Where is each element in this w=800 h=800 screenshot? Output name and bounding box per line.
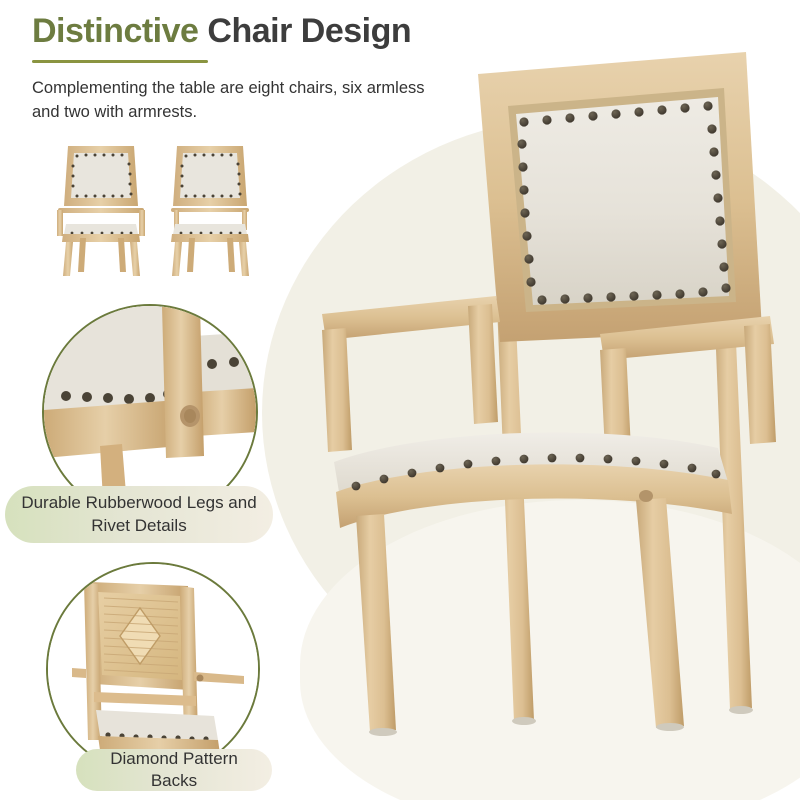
page-title: Distinctive Chair Design (32, 14, 452, 50)
subtitle-text: Complementing the table are eight chairs… (32, 76, 452, 126)
thumbnail-armless-side-chair (163, 138, 258, 278)
callout-label-legs-and-rivets: Durable Rubberwood Legs and Rivet Detail… (5, 486, 273, 543)
callout-label-backs-text: Diamond Pattern Backs (90, 748, 258, 792)
thumbnail-armchair-with-armrests (52, 138, 150, 278)
header-block: Distinctive Chair Design Complementing t… (32, 14, 452, 142)
title-underline-rule (32, 60, 208, 63)
detail-circle-diamond-pattern-back (46, 562, 260, 776)
callout-label-diamond-backs: Diamond Pattern Backs (76, 749, 272, 791)
infographic-canvas: Light rubberwood dining armchair with cr… (0, 0, 800, 800)
title-rest: Chair Design (207, 12, 411, 50)
title-accent-word: Distinctive (32, 12, 198, 50)
callout-label-legs-text: Durable Rubberwood Legs and Rivet Detail… (19, 492, 259, 536)
